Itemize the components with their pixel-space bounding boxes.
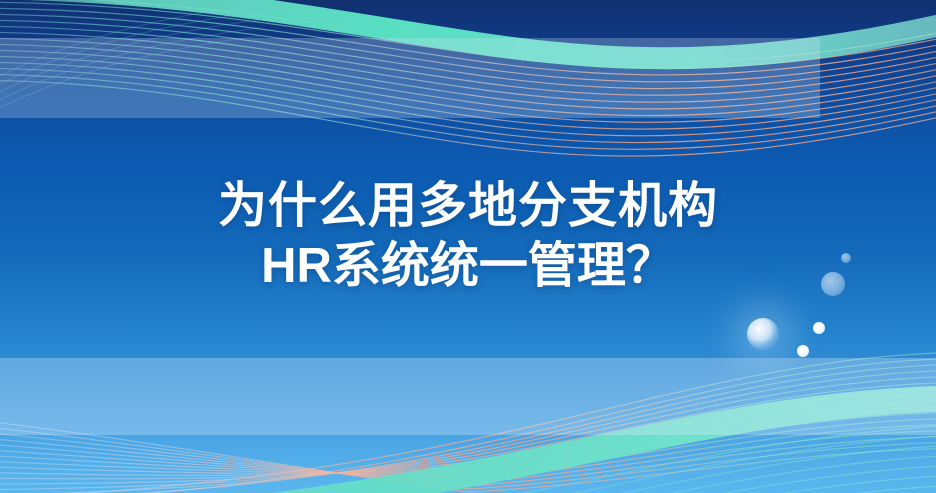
top-left-arc-lines [0,4,260,128]
glass-band-top [0,38,820,118]
top-teal-ribbon-stroke [0,0,936,58]
promo-banner: 为什么用多地分支机构 HR系统统一管理？ [0,0,936,493]
bottom-right-teal-lines [340,424,936,493]
bokeh-small-low [797,345,809,357]
top-wave-fine-lines [0,0,936,156]
headline-line-2: HR系统统一管理？ [0,236,936,296]
bokeh-large-glow [747,318,779,350]
top-teal-ribbon [0,0,936,34]
glass-band-bottom [0,358,936,435]
headline: 为什么用多地分支机构 HR系统统一管理？ [0,176,936,296]
bokeh-small-mid [813,322,825,334]
bottom-teal-ribbon [0,398,936,493]
bottom-wave-fine-lines [0,352,936,493]
headline-line-1: 为什么用多地分支机构 [0,176,936,236]
